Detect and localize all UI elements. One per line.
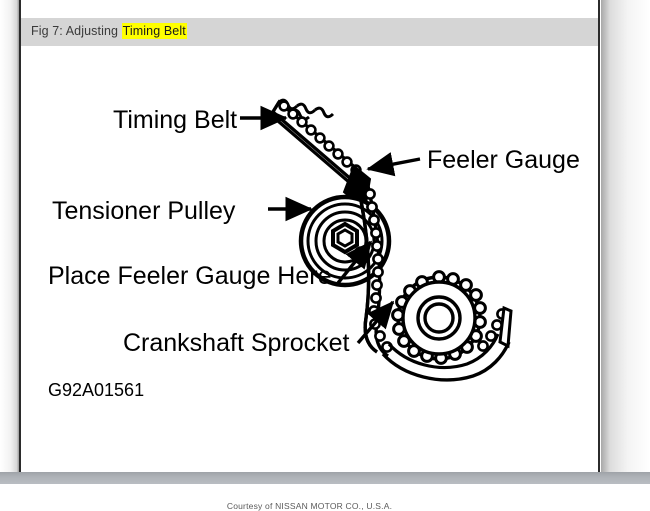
label-place-feeler-gauge: Place Feeler Gauge Here	[48, 262, 331, 290]
sprocket-hub-inner	[425, 304, 453, 332]
figure-caption-highlight[interactable]: Timing Belt	[122, 23, 187, 39]
belt-upper-body	[271, 102, 358, 183]
courtesy-notice: Courtesy of NISSAN MOTOR CO., U.S.A.	[21, 501, 598, 511]
leader-feeler-gauge	[368, 159, 420, 169]
figure-image-area: Timing Belt Feeler Gauge Tensioner Pulle…	[21, 46, 598, 472]
label-feeler-gauge: Feeler Gauge	[427, 146, 580, 174]
label-crankshaft-sprocket: Crankshaft Sprocket	[123, 329, 350, 357]
right-gutter-shadow	[601, 0, 650, 472]
drawing-code: G92A01561	[48, 380, 144, 400]
pulley-hex-bolt-inner	[338, 230, 352, 246]
label-timing-belt: Timing Belt	[113, 106, 237, 134]
label-tensioner-pulley: Tensioner Pulley	[52, 197, 236, 225]
timing-belt-diagram: Timing Belt Feeler Gauge Tensioner Pulle…	[21, 46, 598, 472]
figure-caption-prefix: Fig 7: Adjusting	[31, 24, 122, 38]
belt-teeth-upper	[280, 102, 361, 175]
belt-inner-edge	[273, 112, 352, 180]
timing-belt-upper-run	[271, 100, 360, 183]
crankshaft-sprocket	[393, 272, 486, 364]
bottom-status-bar	[0, 472, 650, 484]
figure-caption: Fig 7: Adjusting Timing Belt	[31, 24, 187, 38]
figure-document-card: Fig 7: Adjusting Timing Belt	[19, 0, 600, 472]
left-gutter-shadow	[0, 0, 19, 472]
